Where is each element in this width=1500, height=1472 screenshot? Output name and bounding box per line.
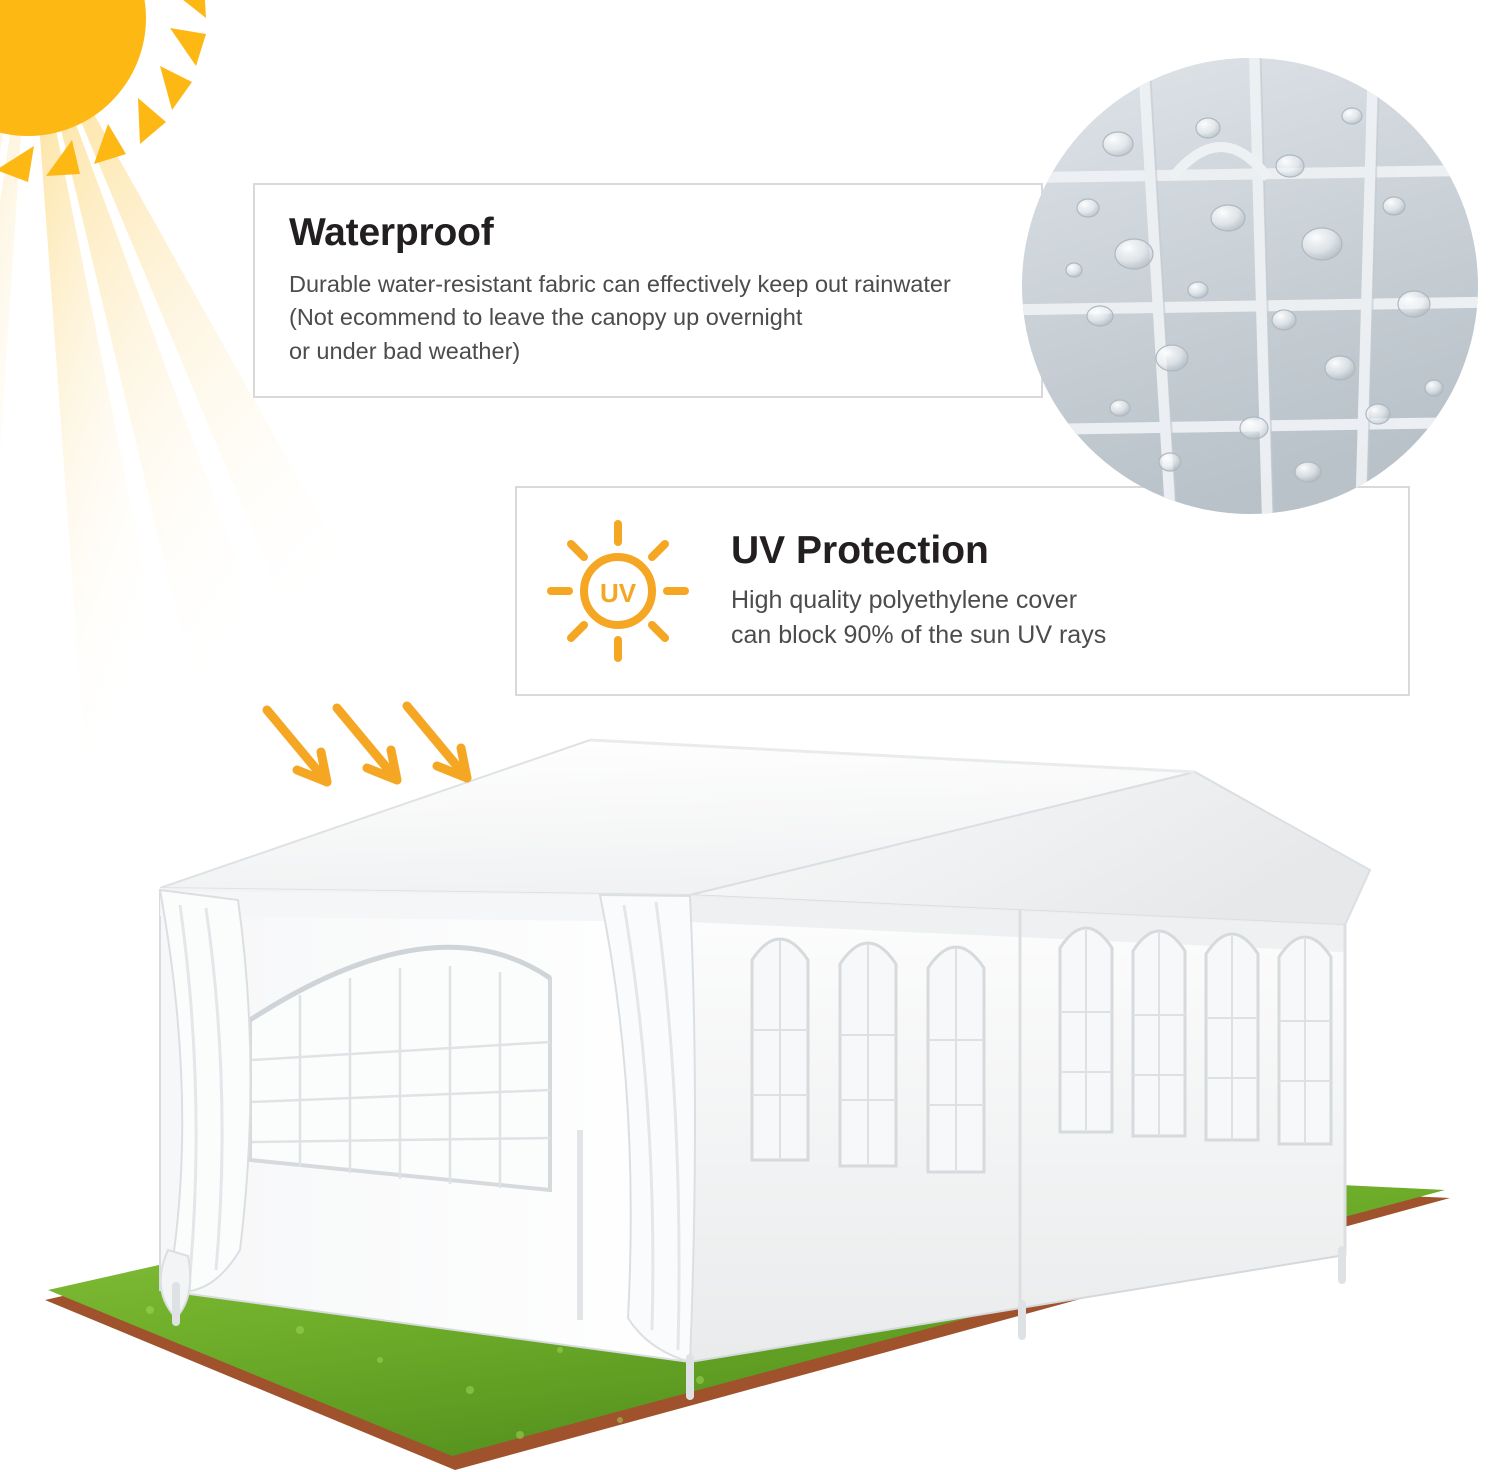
water-droplets-on-canopy-photo — [1022, 58, 1478, 514]
uv-text-block: UV Protection High quality polyethylene … — [731, 529, 1106, 654]
waterproof-line-2: (Not ecommend to leave the canopy up ove… — [289, 301, 1007, 334]
sun-icon — [0, 0, 280, 270]
uv-icon-label: UV — [600, 578, 637, 608]
tent-body — [160, 740, 1370, 1396]
uv-sun-icon: UV — [543, 516, 693, 666]
waterproof-line-1: Durable water-resistant fabric can effec… — [289, 268, 1007, 301]
waterproof-callout: Waterproof Durable water-resistant fabri… — [253, 183, 1043, 398]
uv-line-2: can block 90% of the sun UV rays — [731, 618, 1106, 654]
window-group-side-1 — [752, 939, 984, 1172]
uv-protection-callout: UV UV Protection High quality polyethyle… — [515, 486, 1410, 696]
uv-ray-arrows-icon — [255, 700, 525, 810]
waterproof-line-3: or under bad weather) — [289, 335, 1007, 368]
waterproof-headline: Waterproof — [289, 213, 1007, 254]
uv-headline: UV Protection — [731, 529, 1106, 573]
party-tent-illustration — [0, 690, 1500, 1472]
uv-line-1: High quality polyethylene cover — [731, 583, 1106, 619]
